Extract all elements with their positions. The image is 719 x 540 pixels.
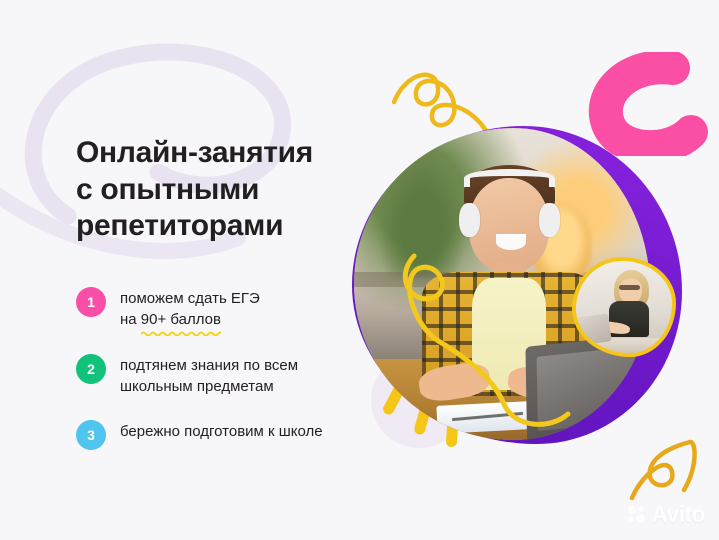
bullet-text-2: подтянем знания по всем школьным предмет… xyxy=(120,353,298,398)
badge-number-3: 3 xyxy=(76,420,106,450)
avito-dots-icon xyxy=(627,505,646,524)
bullet-1-line-2: на 90+ баллов xyxy=(120,309,260,330)
boy-head xyxy=(469,178,549,272)
bullet-text-1: поможем сдать ЕГЭ на 90+ баллов xyxy=(120,286,260,331)
benefits-list: 1 поможем сдать ЕГЭ на 90+ баллов 2 подт… xyxy=(76,286,396,450)
inset-tutor-photo xyxy=(572,257,676,357)
headphone-cup-right xyxy=(539,203,560,237)
headline-line-3: репетиторами xyxy=(76,208,376,245)
tutor-glasses xyxy=(619,285,640,291)
avito-watermark: Avito xyxy=(627,501,705,528)
inset-clip xyxy=(576,261,672,353)
yellow-squiggle-bottom-icon xyxy=(628,436,712,508)
badge-number-2: 2 xyxy=(76,354,106,384)
bullet-2-line-2: школьным предметам xyxy=(120,376,298,397)
bullet-1-highlight-wrap: 90+ баллов xyxy=(141,309,221,330)
list-item: 3 бережно подготовим к школе xyxy=(76,419,396,450)
wavy-underline-icon xyxy=(141,330,221,336)
avito-label: Avito xyxy=(651,501,705,528)
bullet-1-line-1: поможем сдать ЕГЭ xyxy=(120,288,260,309)
list-item: 1 поможем сдать ЕГЭ на 90+ баллов xyxy=(76,286,396,331)
bullet-1-highlight: 90+ баллов xyxy=(141,311,221,328)
headline-line-2: с опытными xyxy=(76,172,376,209)
tutor-face xyxy=(619,278,642,304)
boy-smile xyxy=(496,234,526,250)
badge-number-1: 1 xyxy=(76,287,106,317)
bullet-3-line-1: бережно подготовим к школе xyxy=(120,421,323,442)
promo-banner: Онлайн-занятия с опытными репетиторами 1… xyxy=(0,0,719,540)
bullet-1-prefix: на xyxy=(120,311,141,328)
list-item: 2 подтянем знания по всем школьным предм… xyxy=(76,353,396,398)
bullet-text-3: бережно подготовим к школе xyxy=(120,419,323,442)
headphone-cup-left xyxy=(459,203,480,237)
page-title: Онлайн-занятия с опытными репетиторами xyxy=(76,135,376,245)
bullet-2-line-1: подтянем знания по всем xyxy=(120,355,298,376)
headphones-band xyxy=(464,169,556,188)
headline-line-1: Онлайн-занятия xyxy=(76,135,376,172)
plant xyxy=(378,153,467,278)
